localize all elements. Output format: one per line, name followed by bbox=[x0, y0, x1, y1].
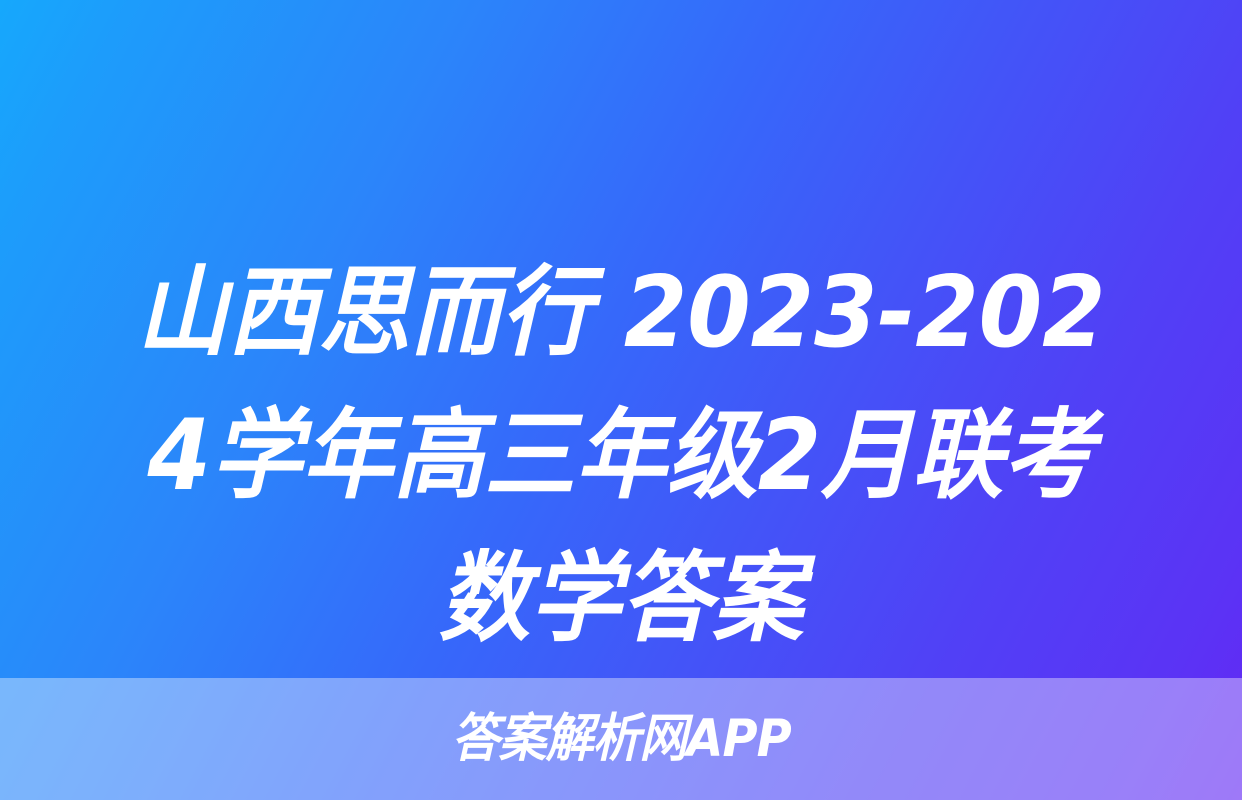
poster-canvas: 山西思而行 2023-2024学年高三年级2月联考数学答案 答案解析网APP bbox=[0, 0, 1242, 800]
page-title: 山西思而行 2023-2024学年高三年级2月联考数学答案 bbox=[43, 242, 1198, 671]
app-watermark-label: 答案解析网APP bbox=[452, 711, 791, 767]
footer-watermark-band: 答案解析网APP bbox=[0, 678, 1242, 800]
